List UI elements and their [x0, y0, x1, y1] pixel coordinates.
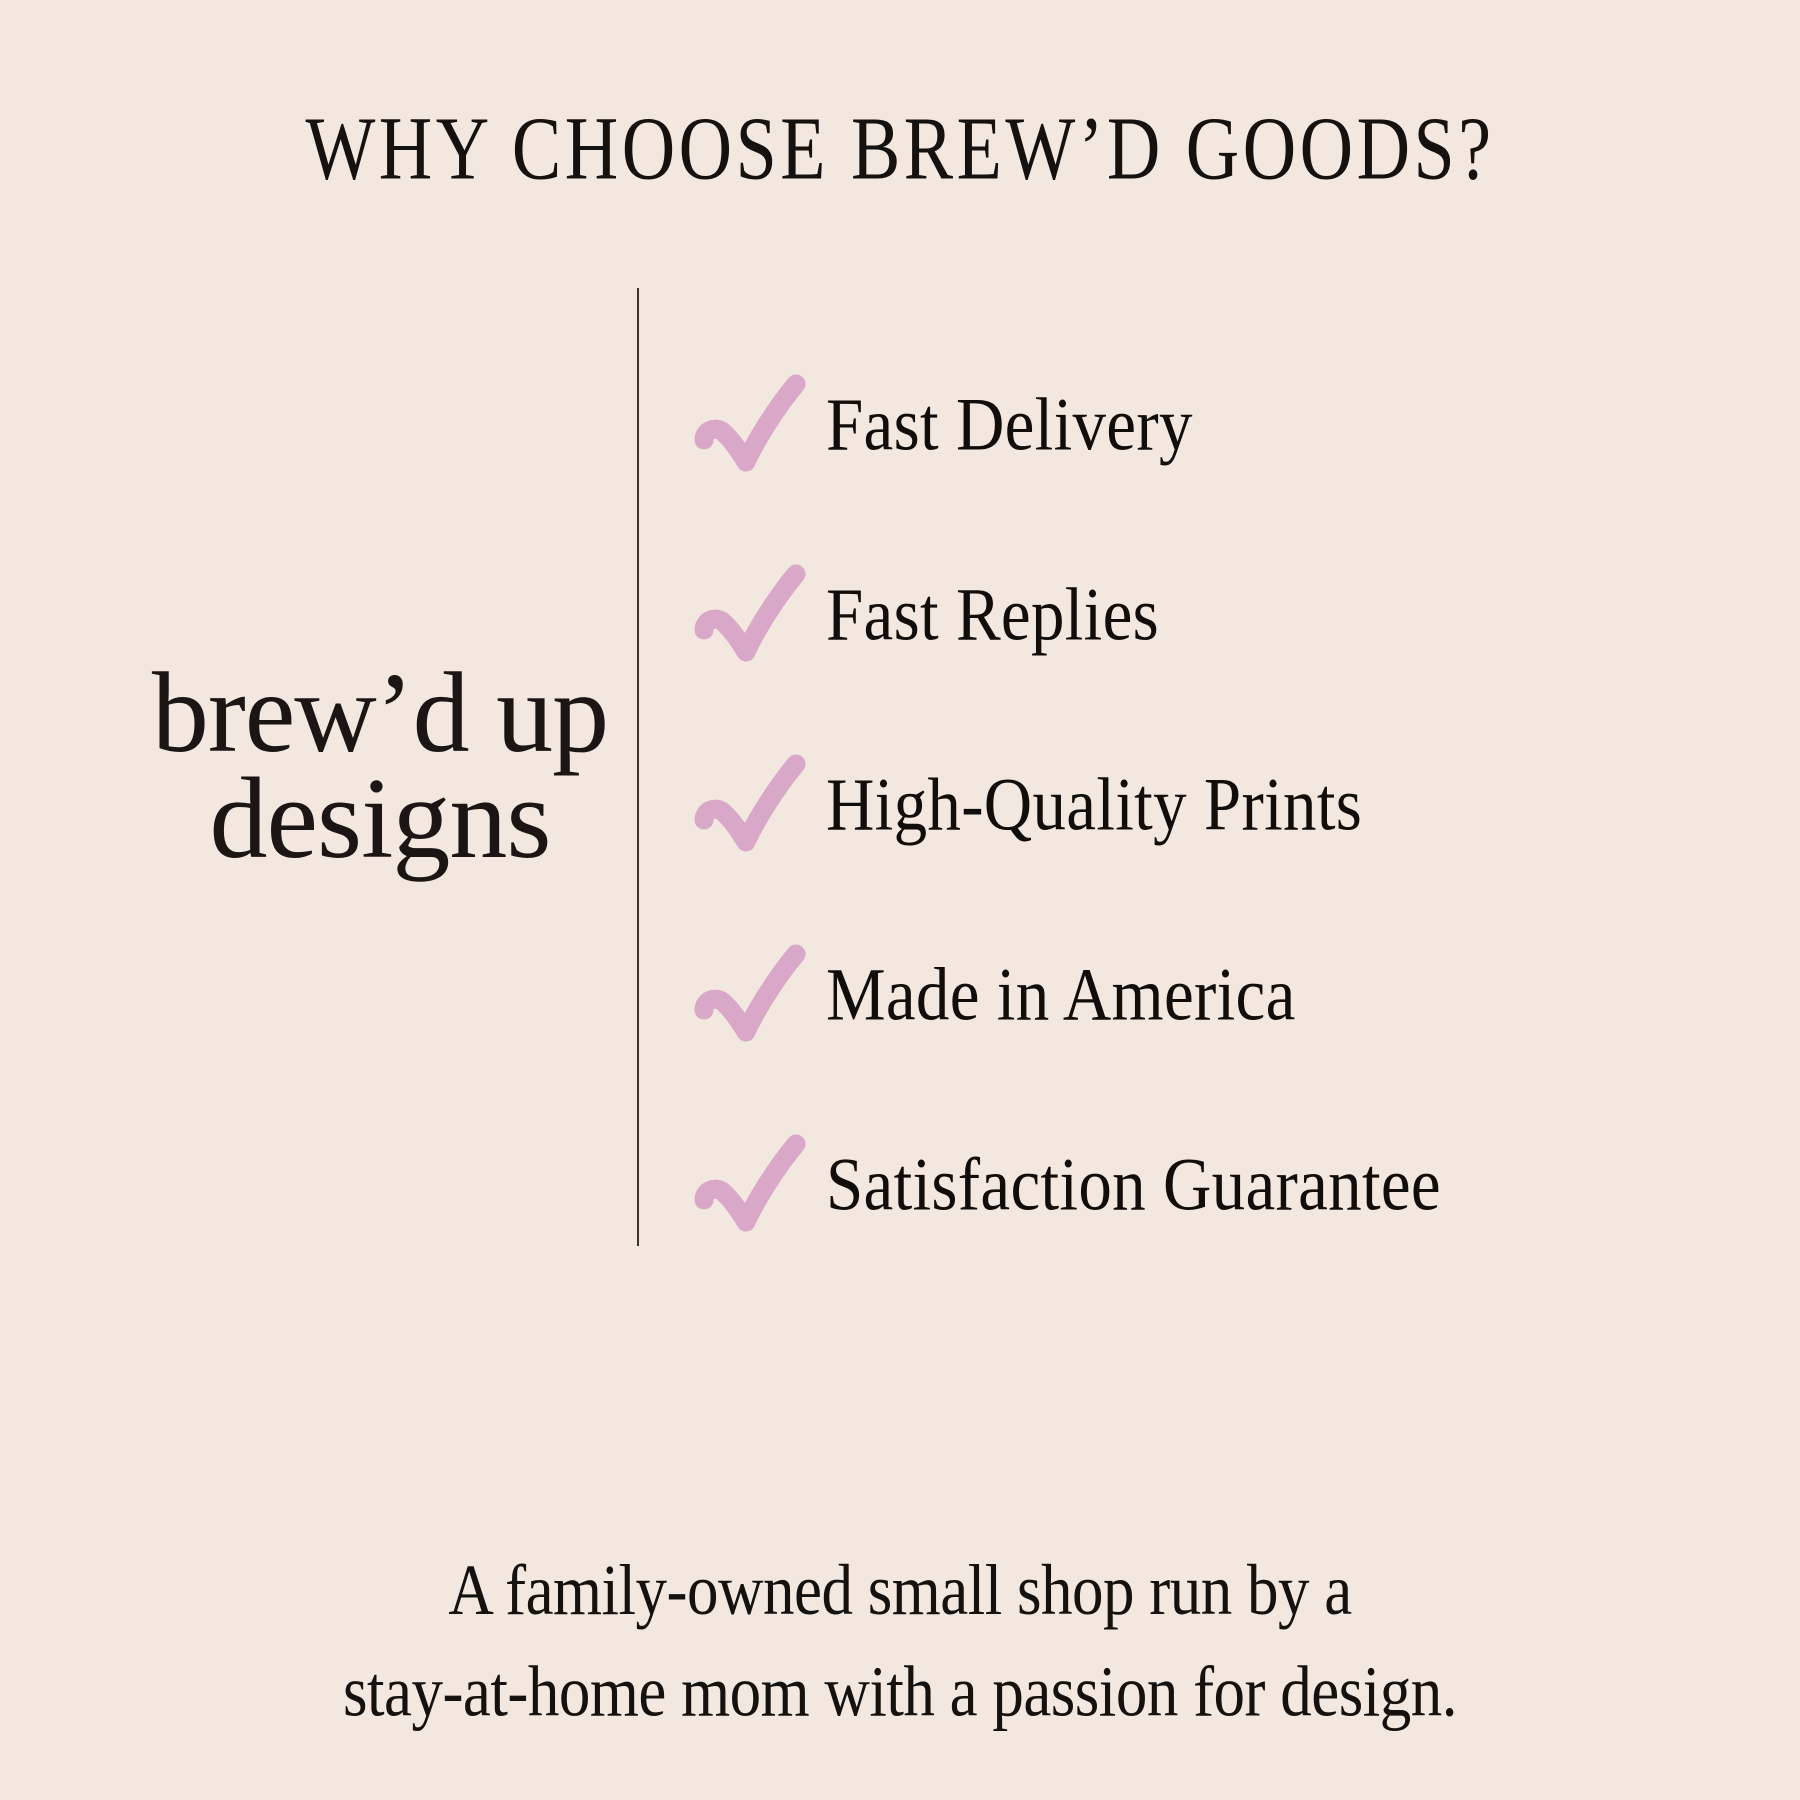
poster-canvas: WHY CHOOSE BREW’D GOODS? brew’d up desig…	[0, 0, 1800, 1800]
footer-caption: A family-owned small shop run by a stay-…	[0, 1540, 1800, 1744]
page-title: WHY CHOOSE BREW’D GOODS?	[0, 104, 1800, 194]
benefits-list: Fast Delivery Fast Replies High-Quality …	[690, 330, 1750, 1280]
brand-logo: brew’d up designs	[120, 660, 640, 874]
list-item: Satisfaction Guarantee	[690, 1090, 1750, 1280]
check-icon	[690, 746, 812, 864]
brand-logo-line-1: brew’d up	[120, 660, 640, 766]
footer-caption-line-2: stay-at-home mom with a passion for desi…	[0, 1642, 1800, 1744]
benefit-label: Satisfaction Guarantee	[826, 1147, 1441, 1222]
benefit-label: Fast Replies	[826, 577, 1159, 652]
check-icon	[690, 556, 812, 674]
benefit-label: High-Quality Prints	[826, 767, 1362, 842]
check-icon	[690, 936, 812, 1054]
footer-caption-line-1: A family-owned small shop run by a	[0, 1540, 1800, 1642]
list-item: Made in America	[690, 900, 1750, 1090]
list-item: Fast Replies	[690, 520, 1750, 710]
brand-logo-line-2: designs	[120, 766, 640, 874]
check-icon	[690, 366, 812, 484]
list-item: High-Quality Prints	[690, 710, 1750, 900]
check-icon	[690, 1126, 812, 1244]
benefit-label: Fast Delivery	[826, 387, 1193, 462]
vertical-divider	[637, 288, 639, 1246]
benefit-label: Made in America	[826, 957, 1296, 1032]
list-item: Fast Delivery	[690, 330, 1750, 520]
